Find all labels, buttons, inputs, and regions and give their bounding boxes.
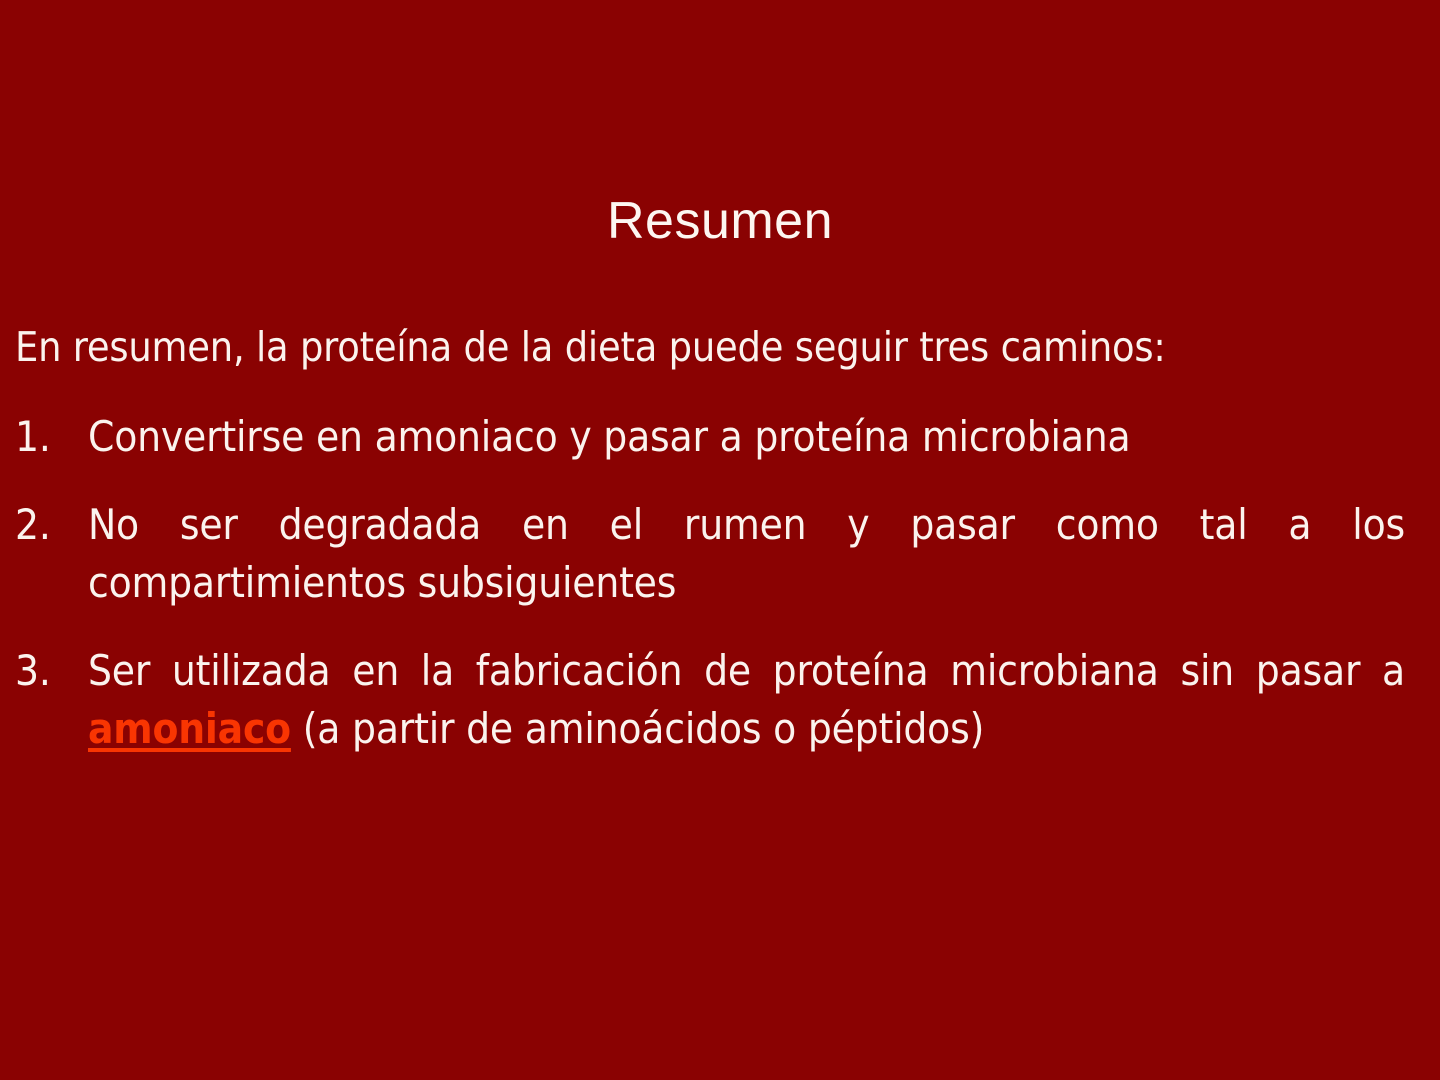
list-item-text: Convertirse en amoniaco y pasar a proteí… xyxy=(88,408,1405,466)
numbered-path-list: 1. Convertirse en amoniaco y pasar a pro… xyxy=(15,408,1405,758)
list-item-number: 2. xyxy=(15,496,73,554)
list-item-number: 3. xyxy=(15,642,73,700)
page-title: Resumen xyxy=(0,190,1440,252)
list-item-text-before: Ser utilizada en la fabricación de prote… xyxy=(88,646,1405,695)
list-item-number: 1. xyxy=(15,408,73,466)
list-item: 3. Ser utilizada en la fabricación de pr… xyxy=(15,642,1405,758)
highlighted-term-amoniaco: amoniaco xyxy=(88,704,291,753)
list-item-text-after: (a partir de aminoácidos o péptidos) xyxy=(291,704,984,753)
intro-paragraph: En resumen, la proteína de la dieta pued… xyxy=(15,318,1405,376)
list-item-text: No ser degradada en el rumen y pasar com… xyxy=(88,496,1405,612)
list-item: 2. No ser degradada en el rumen y pasar … xyxy=(15,496,1405,612)
list-item-text: Ser utilizada en la fabricación de prote… xyxy=(88,642,1405,758)
presentation-slide: Resumen En resumen, la proteína de la di… xyxy=(0,0,1440,1080)
list-item: 1. Convertirse en amoniaco y pasar a pro… xyxy=(15,408,1405,466)
slide-body: En resumen, la proteína de la dieta pued… xyxy=(15,318,1405,758)
